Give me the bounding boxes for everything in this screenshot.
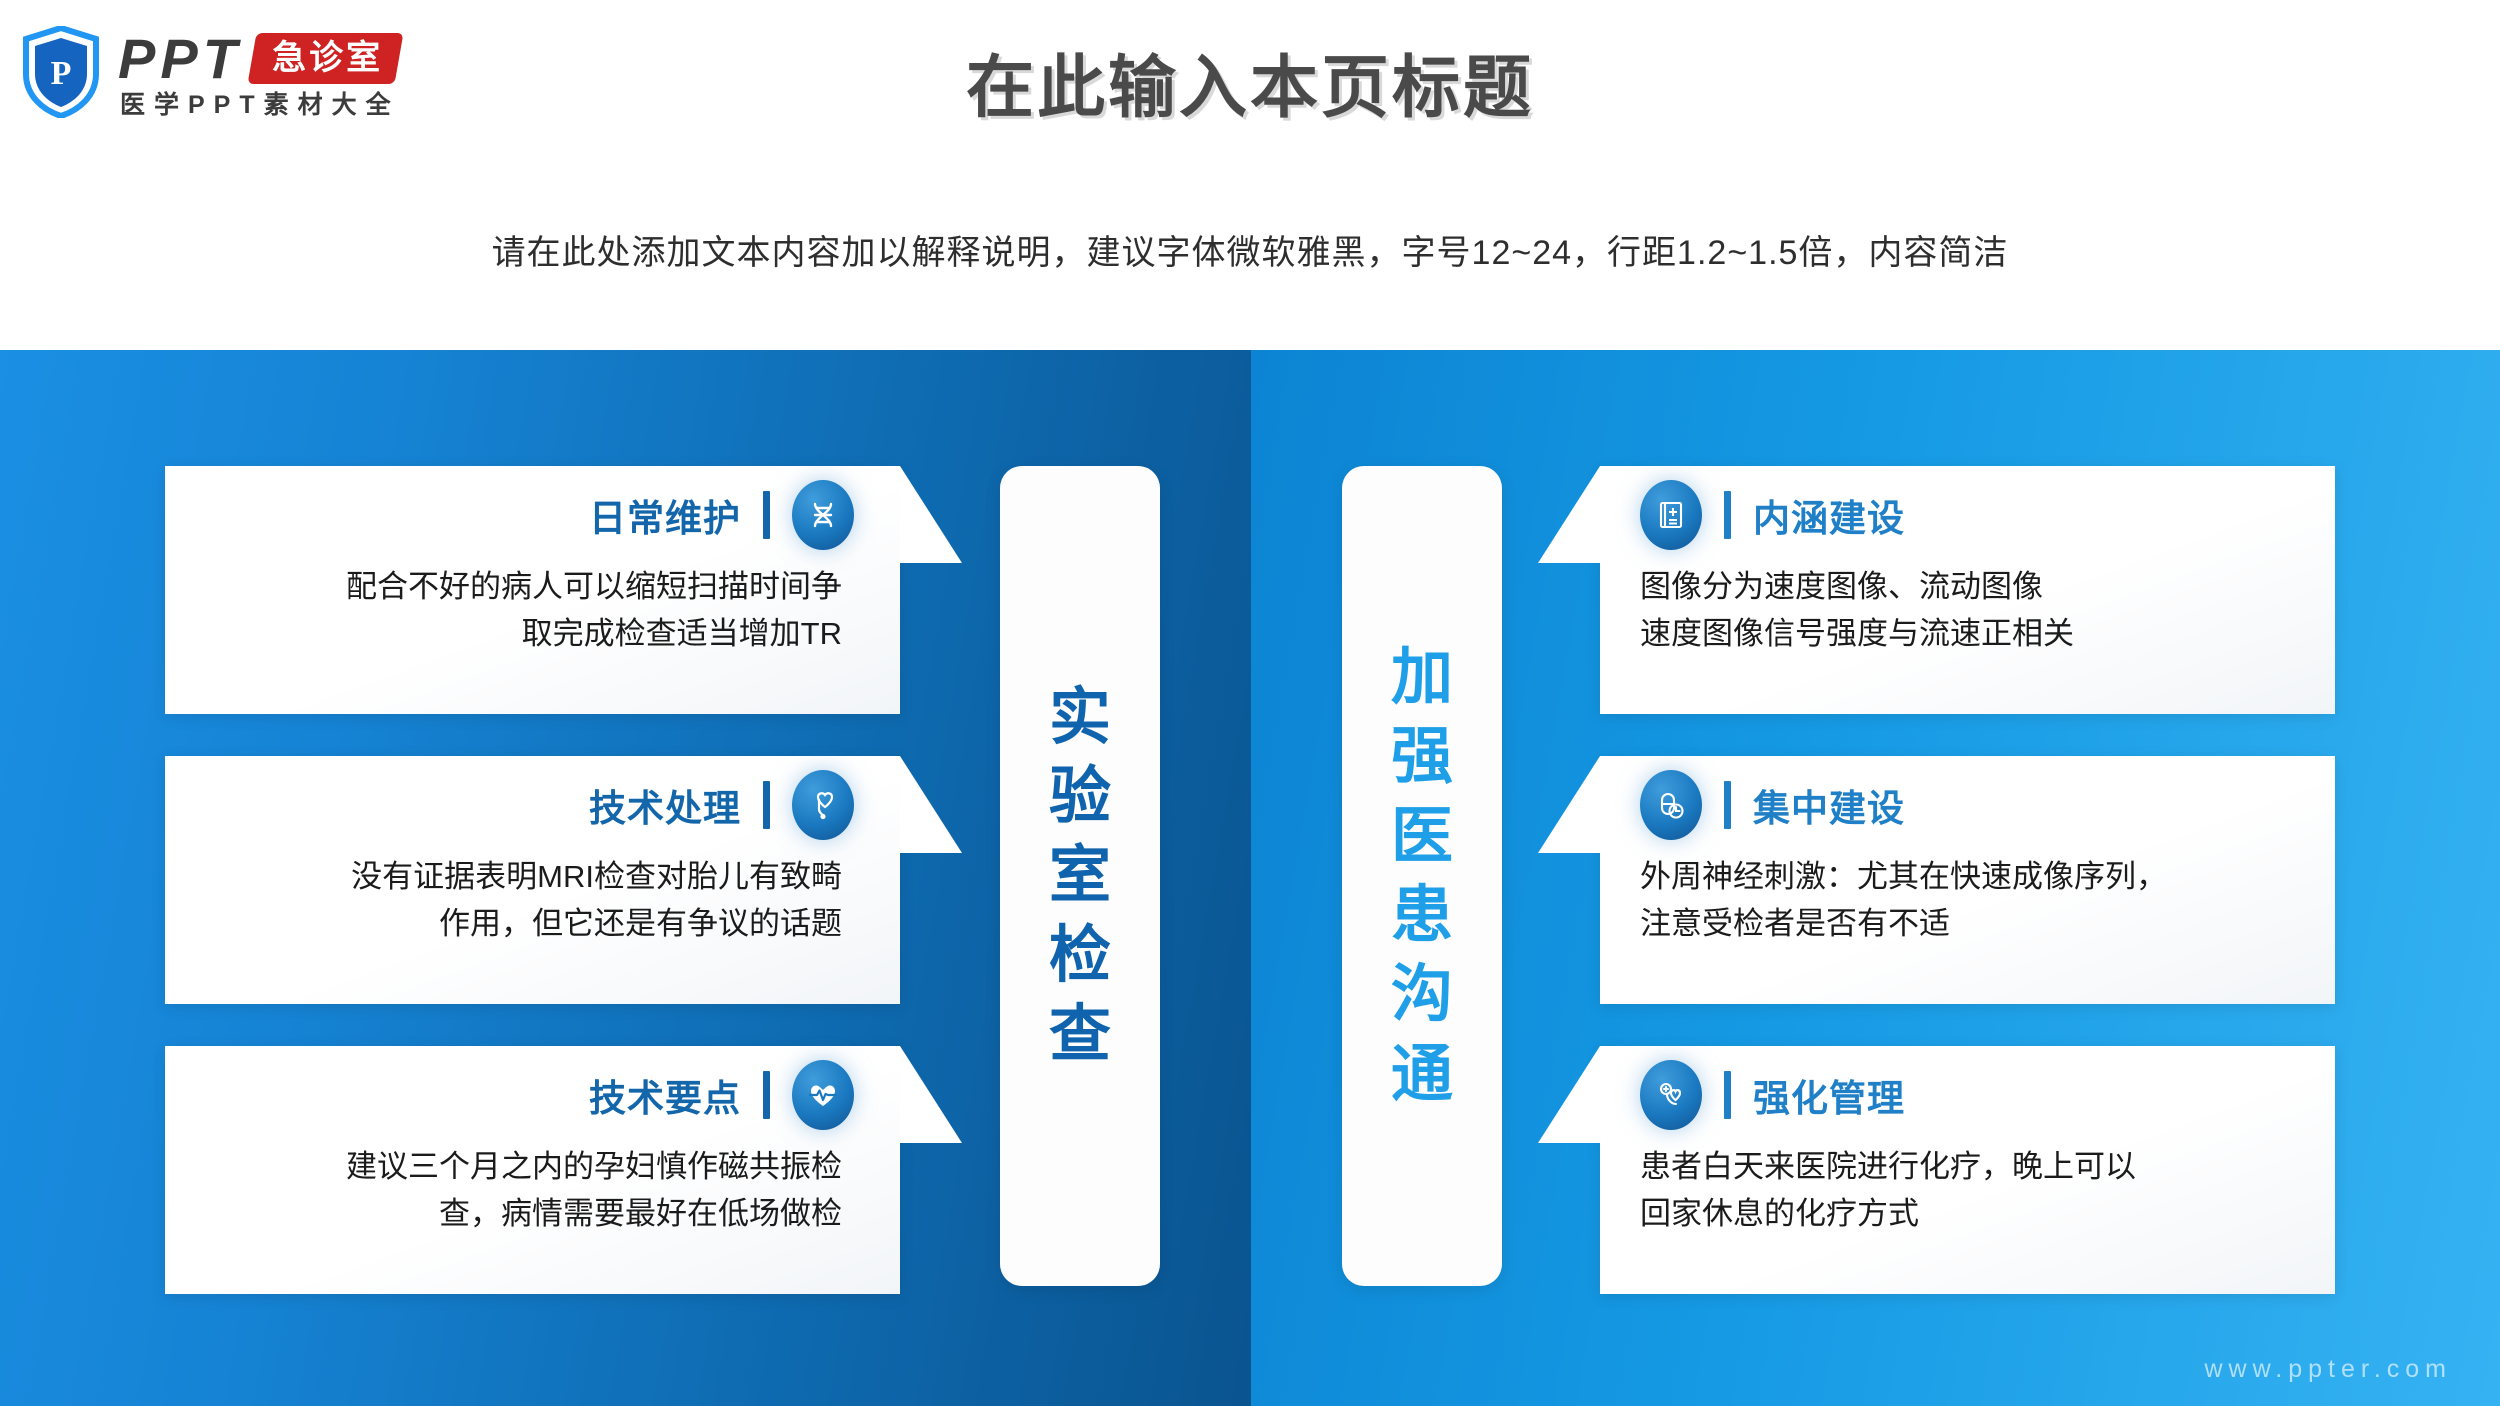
card-pointer-arrow bbox=[1538, 1046, 1600, 1176]
card-title: 集中建设 bbox=[1753, 778, 1905, 832]
card-pointer-arrow bbox=[900, 756, 962, 886]
card-header: 技术要点 bbox=[165, 1046, 900, 1144]
card-header: 技术处理 bbox=[165, 756, 900, 854]
card-body: 没有证据表明MRI检查对胎儿有致畸 作用，但它还是有争议的话题 bbox=[165, 854, 900, 947]
card-body: 配合不好的病人可以缩短扫描时间争 取完成检查适当增加TR bbox=[165, 564, 900, 657]
card-right-1[interactable]: 内涵建设 图像分为速度图像、流动图像 速度图像信号强度与流速正相关 bbox=[1600, 466, 2335, 714]
card-left-3[interactable]: 技术要点 建议三个月之内的孕妇慎作磁共振检 查，病情需要最好在低场做检 bbox=[165, 1046, 900, 1294]
card-title: 技术要点 bbox=[589, 1068, 741, 1122]
banner-left-char: 实 bbox=[1049, 678, 1111, 757]
card-pointer-arrow bbox=[900, 1046, 962, 1176]
title-divider bbox=[1724, 781, 1731, 829]
banner-right-char: 患 bbox=[1391, 876, 1453, 955]
title-divider bbox=[1724, 1071, 1731, 1119]
banner-left-char: 室 bbox=[1049, 836, 1111, 915]
card-title: 强化管理 bbox=[1753, 1068, 1905, 1122]
card-title: 日常维护 bbox=[589, 488, 741, 542]
banner-right: 加 强 医 患 沟 通 bbox=[1342, 466, 1502, 1286]
card-pointer-arrow bbox=[900, 466, 962, 596]
card-body: 图像分为速度图像、流动图像 速度图像信号强度与流速正相关 bbox=[1600, 564, 2335, 657]
page-title: 在此输入本页标题 bbox=[0, 32, 2500, 131]
title-divider bbox=[1724, 491, 1731, 539]
banner-right-char: 医 bbox=[1391, 797, 1453, 876]
capsule-pill-icon bbox=[1640, 770, 1702, 840]
card-left-1[interactable]: 日常维护 配合不好的病人可以缩短扫描时间争 取完成检查适当增加TR bbox=[165, 466, 900, 714]
heartbeat-icon bbox=[792, 1060, 854, 1130]
card-pointer-arrow bbox=[1538, 756, 1600, 886]
banner-right-char: 加 bbox=[1391, 638, 1453, 717]
banner-left-char: 检 bbox=[1049, 916, 1111, 995]
card-title: 内涵建设 bbox=[1753, 488, 1905, 542]
card-header: 集中建设 bbox=[1600, 756, 2335, 854]
banner-right-char: 强 bbox=[1391, 717, 1453, 796]
title-divider bbox=[763, 781, 770, 829]
card-body: 建议三个月之内的孕妇慎作磁共振检 查，病情需要最好在低场做检 bbox=[165, 1144, 900, 1237]
medical-book-icon bbox=[1640, 480, 1702, 550]
heart-stethoscope-icon bbox=[792, 770, 854, 840]
slide-body: 实 验 室 检 查 加 强 医 患 沟 通 日常维护 bbox=[0, 350, 2500, 1406]
slide-header: P PPT 急诊室 医学PPT素材大全 在此输入本页标题 请在此处添加文本内容加… bbox=[0, 0, 2500, 350]
card-left-2[interactable]: 技术处理 没有证据表明MRI检查对胎儿有致畸 作用，但它还是有争议的话题 bbox=[165, 756, 900, 1004]
banner-right-char: 通 bbox=[1391, 1035, 1453, 1114]
title-divider bbox=[763, 491, 770, 539]
page-subtitle: 请在此处添加文本内容加以解释说明，建议字体微软雅黑，字号12~24，行距1.2~… bbox=[0, 225, 2500, 274]
card-right-2[interactable]: 集中建设 外周神经刺激：尤其在快速成像序列， 注意受检者是否有不适 bbox=[1600, 756, 2335, 1004]
card-body: 外周神经刺激：尤其在快速成像序列， 注意受检者是否有不适 bbox=[1600, 854, 2335, 947]
card-header: 强化管理 bbox=[1600, 1046, 2335, 1144]
card-title: 技术处理 bbox=[589, 778, 741, 832]
banner-left: 实 验 室 检 查 bbox=[1000, 466, 1160, 1286]
title-divider bbox=[763, 1071, 770, 1119]
dna-icon bbox=[792, 480, 854, 550]
card-right-3[interactable]: 强化管理 患者白天来医院进行化疗，晚上可以 回家休息的化疗方式 bbox=[1600, 1046, 2335, 1294]
site-watermark: www.ppter.com bbox=[2204, 1355, 2452, 1384]
banner-right-char: 沟 bbox=[1391, 955, 1453, 1034]
stethoscope-heart-icon bbox=[1640, 1060, 1702, 1130]
card-body: 患者白天来医院进行化疗，晚上可以 回家休息的化疗方式 bbox=[1600, 1144, 2335, 1237]
card-header: 日常维护 bbox=[165, 466, 900, 564]
banner-left-char: 验 bbox=[1049, 757, 1111, 836]
banner-left-char: 查 bbox=[1049, 995, 1111, 1074]
card-pointer-arrow bbox=[1538, 466, 1600, 596]
card-header: 内涵建设 bbox=[1600, 466, 2335, 564]
